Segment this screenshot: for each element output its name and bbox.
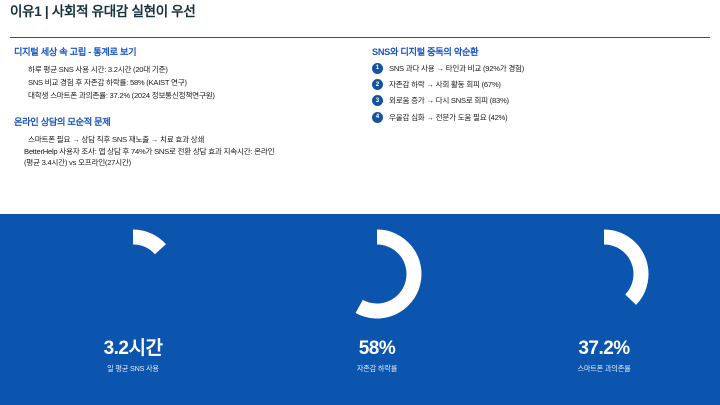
stat-label: 일 평균 SNS 사용 bbox=[33, 364, 233, 374]
stat-card-sns-usage: 3.2시간 일 평균 SNS 사용 bbox=[33, 214, 233, 374]
stat-card-smartphone-dependency: 37.2% 스마트폰 과의존률 bbox=[504, 214, 704, 374]
list-item: 대학생 스마트폰 과의존률: 37.2% (2024 정보통신정책연구원) bbox=[14, 89, 314, 102]
stat-value: 37.2% bbox=[504, 338, 704, 360]
number-badge-icon: 2 bbox=[372, 79, 383, 90]
list-item: 1 SNS 과다 사용 → 타인과 비교 (92%가 경험) bbox=[372, 63, 672, 74]
slide-header: 이유1 | 사회적 유대감 실현이 우선 bbox=[0, 0, 720, 40]
list-item: 하루 평균 SNS 사용 시간: 3.2시간 (20대 기준) bbox=[14, 63, 314, 76]
stat-value: 3.2시간 bbox=[33, 338, 233, 360]
donut-arc-icon bbox=[329, 226, 425, 322]
list-item-label: 외로움 증가 → 다시 SNS로 회피 (83%) bbox=[389, 95, 509, 106]
page-title: 이유1 | 사회적 유대감 실현이 우선 bbox=[10, 4, 340, 19]
section-online-counseling: 온라인 상담의 모순적 문제 스마트폰 필요 → 상담 직후 SNS 재노출 →… bbox=[14, 114, 314, 169]
stats-row: 3.2시간 일 평균 SNS 사용 58% 자존감 하락률 37 bbox=[0, 214, 720, 405]
stats-band: 3.2시간 일 평균 SNS 사용 58% 자존감 하락률 37 bbox=[0, 214, 720, 405]
section-heading: 디지털 세상 속 고립 - 통계로 보기 bbox=[14, 44, 314, 58]
stat-card-selfesteem-drop: 58% 자존감 하락률 bbox=[277, 214, 477, 374]
list-item: SNS 비교 경험 후 자존감 하락률: 58% (KAIST 연구) bbox=[14, 76, 314, 89]
list-item-label: 자존감 하락 → 사회 활동 회피 (67%) bbox=[389, 79, 501, 90]
list-item-label: SNS 과다 사용 → 타인과 비교 (92%가 경험) bbox=[389, 63, 524, 74]
list-item: 2 자존감 하락 → 사회 활동 회피 (67%) bbox=[372, 79, 672, 90]
stat-label: 자존감 하락률 bbox=[277, 364, 477, 374]
list-item: 3 외로움 증가 → 다시 SNS로 회피 (83%) bbox=[372, 95, 672, 106]
list-item-label: 우울감 심화 → 전문가 도움 필요 (42%) bbox=[389, 112, 507, 123]
section-statistics: 디지털 세상 속 고립 - 통계로 보기 하루 평균 SNS 사용 시간: 3.… bbox=[14, 44, 314, 103]
slide: 이유1 | 사회적 유대감 실현이 우선 디지털 세상 속 고립 - 통계로 보… bbox=[0, 0, 720, 405]
donut-chart-selfesteem-drop bbox=[277, 214, 477, 338]
list-item: 4 우울감 심화 → 전문가 도움 필요 (42%) bbox=[372, 112, 672, 123]
donut-arc-icon bbox=[85, 226, 181, 322]
donut-chart-sns-usage bbox=[33, 214, 233, 338]
donut-arc-icon bbox=[556, 226, 652, 322]
header-divider bbox=[10, 37, 710, 38]
supporting-paragraph: BetterHelp 사용자 조사: 앱 상담 후 74%가 SNS로 전환 상… bbox=[14, 146, 282, 169]
section-heading: 온라인 상담의 모순적 문제 bbox=[14, 114, 314, 128]
number-badge-icon: 1 bbox=[372, 63, 383, 74]
stat-label: 스마트폰 과의존률 bbox=[504, 364, 704, 374]
donut-chart-smartphone-dependency bbox=[504, 214, 704, 338]
left-content-column: 디지털 세상 속 고립 - 통계로 보기 하루 평균 SNS 사용 시간: 3.… bbox=[14, 44, 314, 180]
right-content-column: SNS와 디지털 중독의 악순환 1 SNS 과다 사용 → 타인과 비교 (9… bbox=[372, 44, 672, 128]
list-item: 스마트폰 필요 → 상담 직후 SNS 재노출 → 치료 효과 상쇄 bbox=[14, 133, 314, 146]
number-badge-icon: 4 bbox=[372, 112, 383, 123]
section-heading: SNS와 디지털 중독의 악순환 bbox=[372, 44, 672, 58]
number-badge-icon: 3 bbox=[372, 95, 383, 106]
stat-value: 58% bbox=[277, 338, 477, 360]
